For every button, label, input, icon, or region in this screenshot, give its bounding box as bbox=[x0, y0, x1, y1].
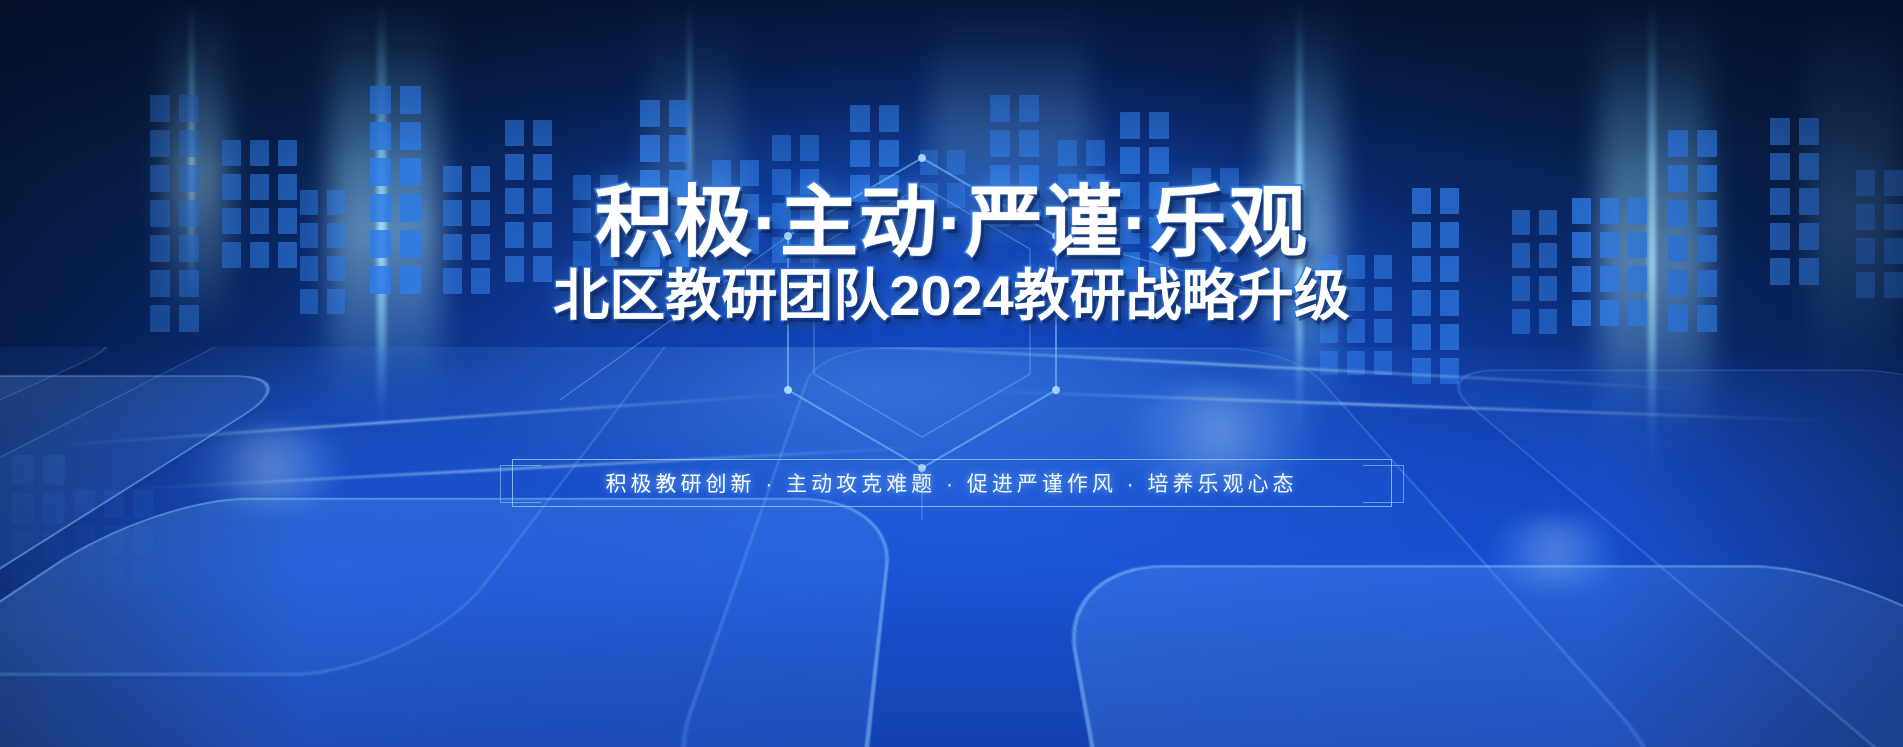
page-subtitle: 北区教研团队2024教研战略升级 bbox=[0, 266, 1903, 326]
hexagon-wireframe bbox=[0, 0, 1903, 747]
promo-banner: 积极·主动·严谨·乐观 北区教研团队2024教研战略升级 积极教研创新 · 主动… bbox=[0, 0, 1903, 747]
tagline-text: 积极教研创新 · 主动攻克难题 · 促进严谨作风 · 培养乐观心态 bbox=[512, 459, 1392, 507]
page-title: 积极·主动·严谨·乐观 bbox=[0, 183, 1903, 261]
tagline-frame: 积极教研创新 · 主动攻克难题 · 促进严谨作风 · 培养乐观心态 bbox=[512, 459, 1392, 507]
